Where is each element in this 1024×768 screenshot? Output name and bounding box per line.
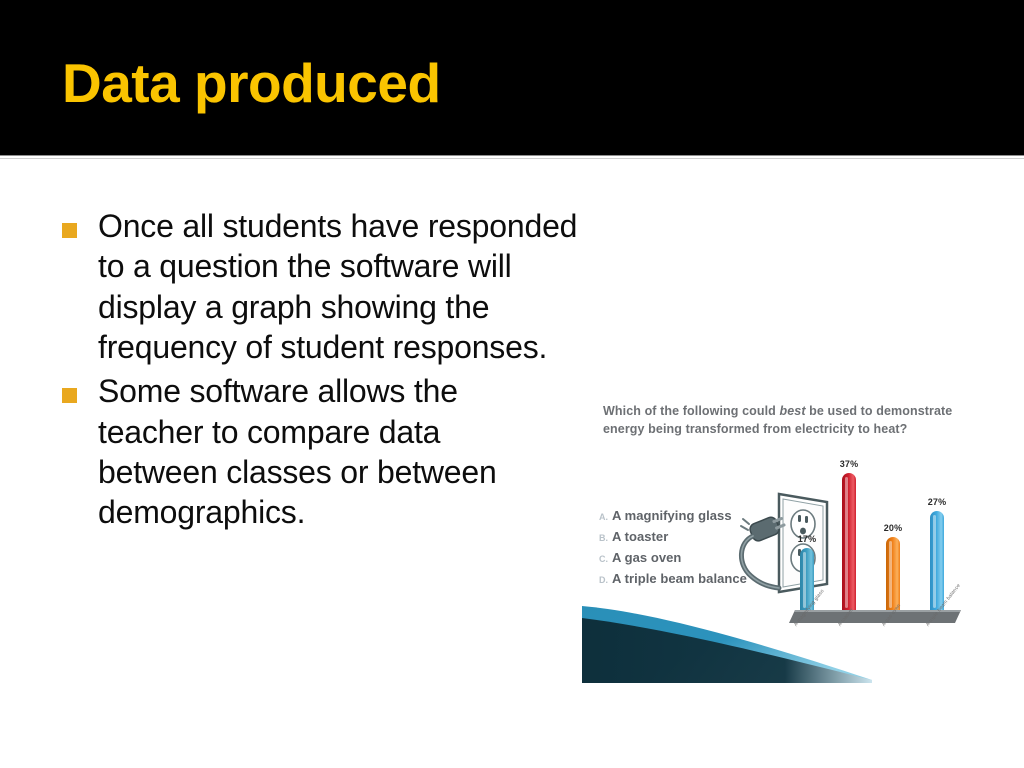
square-bullet-icon [62, 223, 77, 238]
bar-value-label: 27% [917, 497, 957, 507]
list-item: Once all students have responded to a qu… [62, 206, 582, 367]
axis-tick: A gas oven [877, 622, 917, 652]
poll-option-letter: D. [595, 575, 612, 585]
header-divider-shadow [0, 158, 1024, 159]
slide: Data produced Once all students have res… [0, 0, 1024, 768]
poll-option-label: A magnifying glass [612, 508, 732, 523]
chart-plot-area: 17% 37% 20% 27% [787, 460, 962, 612]
square-bullet-icon [62, 388, 77, 403]
poll-option-letter: B. [595, 533, 612, 543]
poll-option-label: A toaster [612, 529, 668, 544]
bullet-list: Once all students have responded to a qu… [62, 206, 582, 537]
poll-option-letter: C. [595, 554, 612, 564]
list-item: Some software allows the teacher to comp… [62, 371, 582, 532]
poll-question-part1: Which of the following could [603, 404, 779, 418]
bar-value-label: 20% [873, 523, 913, 533]
poll-results-chart: 17% 37% 20% 27% [787, 460, 962, 645]
poll-question: Which of the following could best be use… [603, 403, 953, 439]
axis-tick: A toaster [833, 622, 873, 652]
bullet-text: Some software allows the teacher to comp… [98, 371, 553, 532]
bar-value-label: 17% [787, 534, 827, 544]
axis-tick: A triple beam balance [921, 622, 961, 652]
bar-c [886, 537, 900, 612]
bullet-text: Once all students have responded to a qu… [98, 206, 582, 367]
page-title: Data produced [62, 56, 441, 111]
bar-b [842, 473, 856, 612]
embedded-poll-image: Which of the following could best be use… [582, 390, 968, 683]
header-divider [0, 155, 1024, 156]
bar-value-label: 37% [829, 459, 869, 469]
poll-option-letter: A. [595, 512, 612, 522]
poll-question-emphasis: best [779, 404, 805, 418]
poll-option-label: A gas oven [612, 550, 681, 565]
chart-axis-labels: A magnifying glass A toaster A gas oven … [787, 622, 962, 654]
axis-tick: A magnifying glass [789, 622, 829, 652]
poll-option-label: A triple beam balance [612, 571, 747, 586]
bar-d [930, 511, 944, 612]
